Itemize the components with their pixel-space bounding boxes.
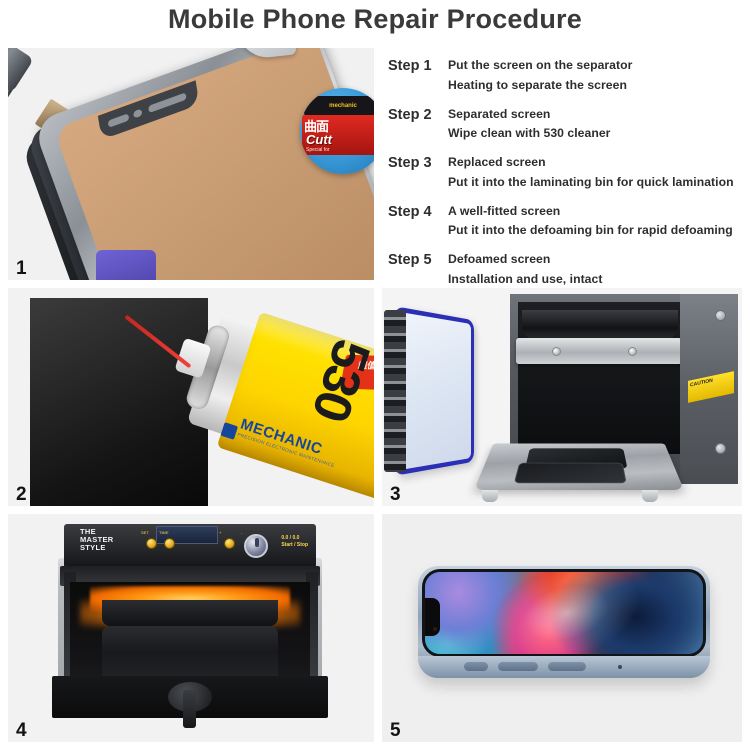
caution-label: CAUTION xyxy=(688,371,734,391)
control-knob[interactable] xyxy=(244,534,268,558)
screw-icon xyxy=(715,443,726,454)
knob-readout-value: 0.0 / 0.0 xyxy=(281,535,308,542)
decrease-button-label: - xyxy=(241,530,242,535)
finished-phone xyxy=(418,566,710,678)
set-button-label: SET xyxy=(141,530,149,535)
panel-number: 4 xyxy=(16,721,27,740)
panel-number: 3 xyxy=(390,485,401,504)
tray-foot xyxy=(642,490,658,502)
panel-5-finished-phone: 5 xyxy=(382,514,742,742)
knob-readout-caption: Start / Stop xyxy=(281,542,308,549)
speaker-grille-icon xyxy=(464,662,488,671)
step-1-line-1: Put the screen on the separator xyxy=(448,56,748,76)
step-2-line-1: Separated screen xyxy=(448,105,748,125)
press-rollers xyxy=(522,310,678,340)
brand-mark-icon xyxy=(220,422,238,440)
charge-port-icon xyxy=(498,662,538,671)
brand-line-3: STYLE xyxy=(80,544,113,552)
step-5-line-2: Installation and use, intact xyxy=(448,270,748,290)
blue-base-block xyxy=(96,250,156,280)
step-3-line-2: Put it into the laminating bin for quick… xyxy=(448,173,748,193)
separated-black-screen xyxy=(30,298,208,506)
repair-procedure-page: Mobile Phone Repair Procedure mechanic xyxy=(0,0,750,750)
bolt-icon xyxy=(628,347,637,356)
wheel-en-label: Cutt xyxy=(306,132,332,147)
wallpaper xyxy=(425,572,703,654)
step-2-label: Step 2 xyxy=(388,105,448,145)
knob-readout: 0.0 / 0.0 Start / Stop xyxy=(281,535,308,549)
drawer-handle[interactable] xyxy=(168,682,212,712)
step-1-lines: Put the screen on the separator Heating … xyxy=(448,56,748,96)
step-5-label: Step 5 xyxy=(388,250,448,290)
control-panel: THE MASTER STYLE SET TIME + - 0.0 / 0.0 … xyxy=(64,524,316,568)
screen-on-tray xyxy=(514,463,627,483)
phone-bottom-edge xyxy=(418,656,710,678)
product-number-label: 530 xyxy=(304,334,374,427)
step-row-5: Step 5 Defoamed screen Installation and … xyxy=(388,250,748,290)
tray-foot xyxy=(482,490,498,502)
time-button[interactable]: TIME xyxy=(164,538,175,549)
step-5-line-1: Defoamed screen xyxy=(448,250,748,270)
time-button-label: TIME xyxy=(159,530,169,535)
step-row-2: Step 2 Separated screen Wipe clean with … xyxy=(388,105,748,145)
camera-icon xyxy=(133,108,143,118)
panel-number: 2 xyxy=(16,485,27,504)
step-2-line-2: Wipe clean with 530 cleaner xyxy=(448,124,748,144)
panel-2-cleaner: 超值 530 精密电子环保清洗剂 MECHANIC PRECISION ELEC… xyxy=(8,288,374,506)
set-button[interactable]: SET xyxy=(146,538,157,549)
step-1-line-2: Heating to separate the screen xyxy=(448,76,748,96)
panel-number: 1 xyxy=(16,259,27,278)
increase-button[interactable]: + xyxy=(224,538,235,549)
flex-cable xyxy=(384,310,406,472)
brand-label: MECHANIC PRECISION ELECTRONIC MAINTENANC… xyxy=(237,416,341,468)
bolt-icon xyxy=(552,347,561,356)
microphone-icon xyxy=(618,665,622,669)
step-4-line-1: A well-fitted screen xyxy=(448,202,748,222)
steps-list: Step 1 Put the screen on the separator H… xyxy=(388,56,748,299)
step-4-label: Step 4 xyxy=(388,202,448,242)
panel-1-separator: mechanic 曲面 Cutt Special for 1 xyxy=(8,48,374,280)
laminating-tray xyxy=(474,444,684,490)
phone-display xyxy=(422,569,706,657)
step-row-4: Step 4 A well-fitted screen Put it into … xyxy=(388,202,748,242)
notch-icon xyxy=(98,80,200,140)
silver-press-bar xyxy=(516,338,682,364)
notch-icon xyxy=(424,598,440,636)
wheel-sub-label: Special for xyxy=(306,147,330,153)
step-3-line-1: Replaced screen xyxy=(448,153,748,173)
step-row-1: Step 1 Put the screen on the separator H… xyxy=(388,56,748,96)
machine-brand-label: THE MASTER STYLE xyxy=(80,528,113,552)
step-5-lines: Defoamed screen Installation and use, in… xyxy=(448,250,748,290)
heat-tool-icon xyxy=(8,48,31,188)
earpiece-icon xyxy=(108,113,130,128)
step-3-label: Step 3 xyxy=(388,153,448,193)
speaker-grille-icon xyxy=(548,662,586,671)
page-title: Mobile Phone Repair Procedure xyxy=(0,4,750,35)
increase-button-label: + xyxy=(219,530,221,535)
wheel-brand-label: mechanic xyxy=(304,96,374,116)
step-row-3: Step 3 Replaced screen Put it into the l… xyxy=(388,153,748,193)
panel-number: 5 xyxy=(390,721,401,740)
step-4-lines: A well-fitted screen Put it into the def… xyxy=(448,202,748,242)
product-cn-label: 精密电子环保清洗剂 xyxy=(367,370,374,504)
panel-4-defoaming-machine: THE MASTER STYLE SET TIME + - 0.0 / 0.0 … xyxy=(8,514,374,742)
sensor-icon xyxy=(148,92,187,113)
machine-side-panel: CAUTION xyxy=(680,294,738,484)
step-3-lines: Replaced screen Put it into the laminati… xyxy=(448,153,748,193)
screw-icon xyxy=(715,310,726,321)
step-1-label: Step 1 xyxy=(388,56,448,96)
heater-plate xyxy=(102,600,278,626)
drawer-front[interactable] xyxy=(52,676,328,718)
step-2-lines: Separated screen Wipe clean with 530 cle… xyxy=(448,105,748,145)
panel-3-laminating-machine: CAUTION 3 xyxy=(382,288,742,506)
step-4-line-2: Put it into the defoaming bin for rapid … xyxy=(448,221,748,241)
caution-sticker: CAUTION xyxy=(688,371,734,403)
